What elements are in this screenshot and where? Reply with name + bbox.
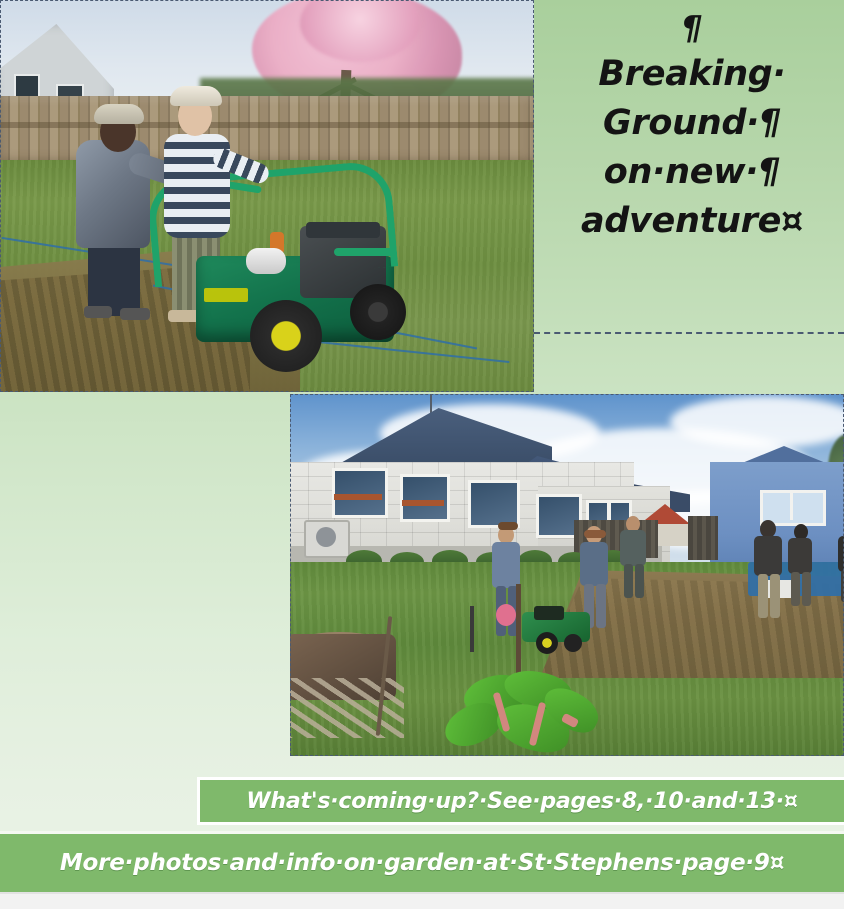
caption-bar-upcoming[interactable]: What's·coming·up?·See·pages·8,·10·and·13… bbox=[197, 777, 844, 825]
rototiller-wheel bbox=[350, 284, 406, 340]
person-hat bbox=[94, 104, 144, 124]
title-line-2: Ground·¶ bbox=[603, 99, 781, 148]
photo-tiller[interactable] bbox=[0, 0, 534, 392]
house-window bbox=[468, 480, 520, 528]
caption-bar-more-info[interactable]: More·photos·and·info·on·garden·at·St·Ste… bbox=[0, 834, 844, 892]
document-page: ¶ Breaking· Ground·¶ on·new·¶ adventure¤… bbox=[0, 0, 844, 909]
person-legs bbox=[88, 236, 140, 316]
page-bottom-margin bbox=[0, 892, 844, 909]
pink-bucket bbox=[496, 604, 516, 626]
house-window bbox=[332, 468, 388, 518]
rhubarb-plant bbox=[438, 672, 608, 756]
small-rototiller-engine bbox=[534, 606, 564, 620]
page-bottom-edge bbox=[0, 892, 844, 894]
window-curtain bbox=[402, 500, 444, 506]
title-line-1: Breaking· bbox=[598, 50, 785, 99]
house-window bbox=[400, 474, 450, 522]
window-curtain bbox=[334, 494, 382, 500]
person-shoe bbox=[120, 308, 150, 320]
garden-stake bbox=[470, 606, 474, 652]
window-mullion bbox=[790, 490, 793, 520]
photo-garden-scene bbox=[290, 394, 844, 756]
title-line-pilcrow: ¶ bbox=[682, 6, 703, 50]
person-hat bbox=[170, 86, 222, 106]
object-anchor-guide-line bbox=[534, 332, 844, 334]
small-rototiller-wheel bbox=[536, 632, 558, 654]
dry-roots bbox=[290, 678, 404, 738]
rototiller-wheel bbox=[250, 300, 322, 372]
wooden-fence bbox=[688, 516, 718, 560]
photo-garden[interactable] bbox=[290, 394, 844, 756]
small-rototiller-wheel bbox=[564, 634, 582, 652]
caption-upcoming-text: What's·coming·up?·See·pages·8,·10·and·13… bbox=[246, 789, 797, 814]
title-line-3: on·new·¶ bbox=[604, 148, 780, 197]
rototiller-badge bbox=[204, 288, 248, 302]
photo-tiller-scene bbox=[0, 0, 534, 392]
heat-pump-fan bbox=[316, 527, 336, 547]
caption-more-info-text: More·photos·and·info·on·garden·at·St·Ste… bbox=[60, 850, 784, 876]
page-title[interactable]: ¶ Breaking· Ground·¶ on·new·¶ adventure¤ bbox=[540, 2, 844, 270]
fence-rail bbox=[0, 122, 534, 128]
person-shoe bbox=[84, 306, 112, 318]
title-line-4: adventure¤ bbox=[581, 197, 803, 246]
